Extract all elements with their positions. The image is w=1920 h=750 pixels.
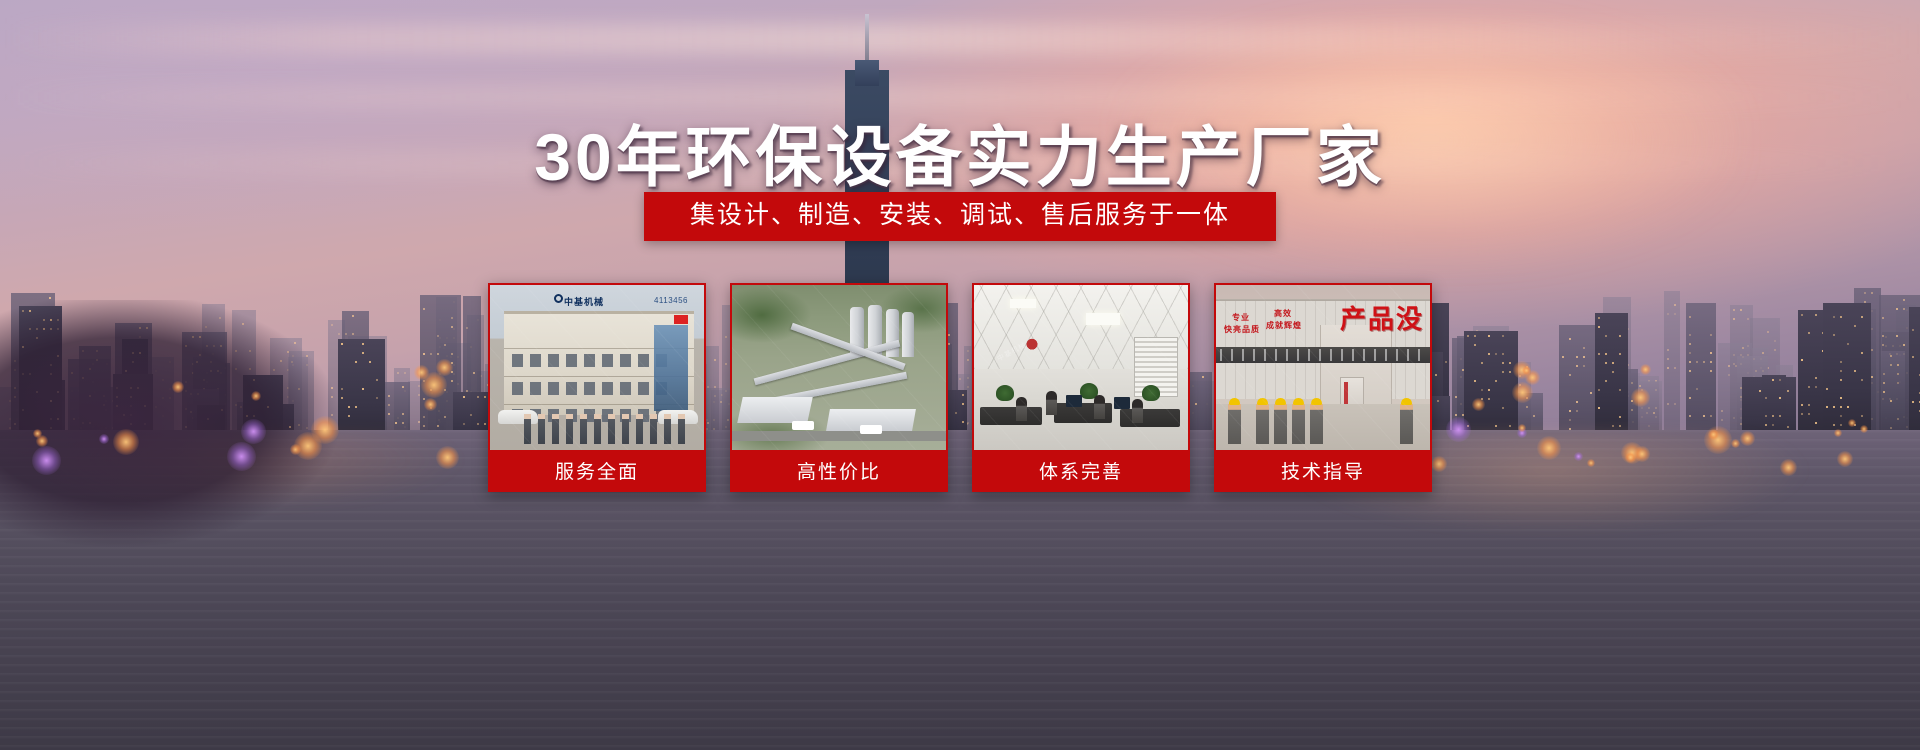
flag-icon bbox=[674, 315, 688, 324]
storage-silo bbox=[886, 309, 899, 357]
hero-banner: 30年环保设备实力生产厂家 集设计、制造、安装、调试、售后服务于一体 中基机械 … bbox=[0, 0, 1920, 750]
tower-cap bbox=[855, 60, 879, 86]
office-worker bbox=[1094, 395, 1105, 419]
card-label: 服务全面 bbox=[490, 450, 704, 490]
office-desk bbox=[1120, 409, 1180, 427]
computer-monitor bbox=[1114, 397, 1130, 409]
computer-monitor bbox=[1066, 395, 1082, 407]
feature-card[interactable]: 中基机械 4113456 服务全面 bbox=[488, 283, 706, 492]
office-worker bbox=[1132, 399, 1143, 423]
building-sign-text: 中基机械 bbox=[564, 295, 604, 308]
office-plant bbox=[996, 385, 1014, 401]
card-photo-factory-workers: 产品没 专业 快亮品质 高效 成就辉煌 bbox=[1216, 285, 1430, 450]
ceiling-light-panel bbox=[1010, 299, 1036, 308]
factory-worker bbox=[1256, 404, 1269, 444]
factory-slogan-left-sub: 快亮品质 bbox=[1224, 325, 1260, 335]
factory-worker bbox=[1228, 404, 1241, 444]
card-photo-headquarters: 中基机械 4113456 bbox=[490, 285, 704, 450]
factory-yard-ground bbox=[1216, 404, 1430, 450]
glass-atrium bbox=[654, 325, 688, 411]
delivery-truck bbox=[792, 421, 814, 430]
factory-worker bbox=[1292, 404, 1305, 444]
factory-slogan-left: 专业 bbox=[1232, 313, 1250, 323]
factory-slogan-right: 高效 bbox=[1274, 309, 1292, 319]
factory-worker bbox=[1274, 404, 1287, 444]
factory-banner-text: 产品没 bbox=[1340, 299, 1424, 336]
office-worker bbox=[1046, 391, 1057, 415]
subtitle-bar-wrapper: 集设计、制造、安装、调试、售后服务于一体 bbox=[0, 192, 1920, 241]
page-title: 30年环保设备实力生产厂家 bbox=[0, 104, 1920, 200]
office-worker bbox=[1016, 397, 1027, 421]
factory-slogan-right-sub: 成就辉煌 bbox=[1266, 321, 1302, 331]
plant-shed bbox=[737, 397, 813, 423]
company-logo-icon bbox=[554, 294, 563, 303]
card-photo-plant-aerial bbox=[732, 285, 946, 450]
ceiling-light-panel bbox=[1086, 313, 1120, 325]
office-desk bbox=[980, 407, 1042, 425]
card-label: 体系完善 bbox=[974, 450, 1188, 490]
feature-card[interactable]: 中基机械 体系完善 bbox=[972, 283, 1190, 492]
factory-window-strip bbox=[1216, 347, 1430, 363]
factory-worker bbox=[1310, 404, 1323, 444]
delivery-truck bbox=[860, 425, 882, 434]
card-photo-office-interior: 中基机械 bbox=[974, 285, 1188, 450]
plant-road bbox=[732, 431, 946, 441]
storage-silo bbox=[902, 312, 914, 357]
office-plant bbox=[1142, 385, 1160, 401]
card-label: 高性价比 bbox=[732, 450, 946, 490]
feature-card[interactable]: 产品没 专业 快亮品质 高效 成就辉煌 技术指导 bbox=[1214, 283, 1432, 492]
feature-card[interactable]: 高性价比 bbox=[730, 283, 948, 492]
card-label: 技术指导 bbox=[1216, 450, 1430, 490]
factory-worker bbox=[1400, 404, 1413, 444]
feature-card-row: 中基机械 4113456 服务全面 bbox=[0, 283, 1920, 492]
staff-lineup bbox=[524, 414, 685, 444]
building-phone-text: 4113456 bbox=[654, 296, 688, 305]
subtitle-banner: 集设计、制造、安装、调试、售后服务于一体 bbox=[644, 192, 1276, 241]
